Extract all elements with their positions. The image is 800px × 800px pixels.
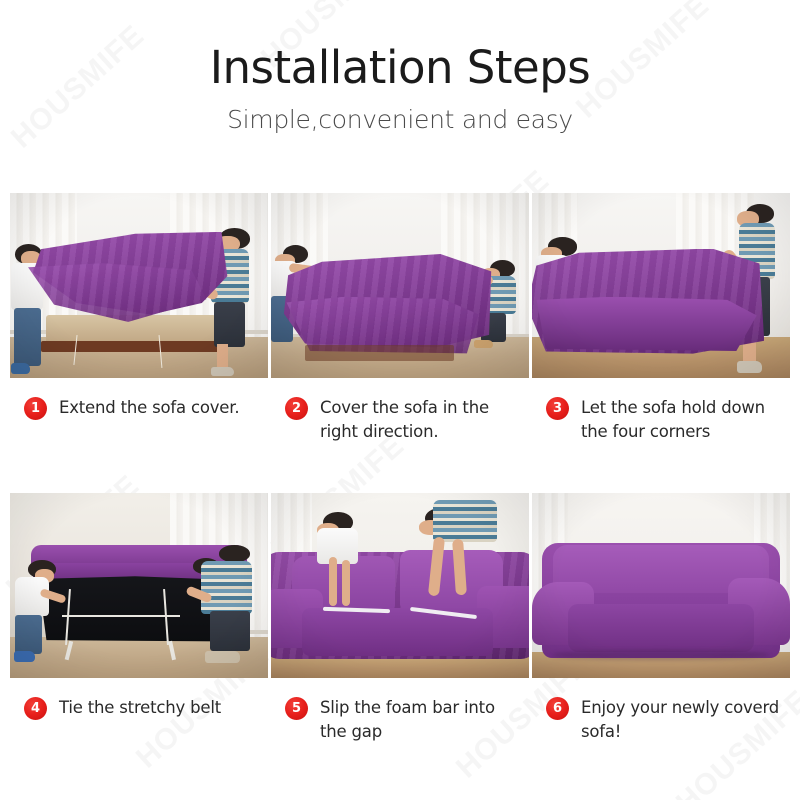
step-photo-5 — [271, 493, 529, 678]
step-caption-text-5: Slip the foam bar into the gap — [320, 696, 525, 744]
step-caption-text-2: Cover the sofa in the right direction. — [320, 396, 525, 444]
step-caption-text-3: Let the sofa hold down the four corners — [581, 396, 786, 444]
page-subtitle: Simple,convenient and easy — [0, 105, 800, 134]
step-caption-1: 1 Extend the sofa cover. — [10, 378, 268, 493]
step-photo-1 — [10, 193, 268, 378]
step-caption-3: 3 Let the sofa hold down the four corner… — [532, 378, 790, 493]
step-caption-text-4: Tie the stretchy belt — [59, 696, 221, 720]
step-caption-2: 2 Cover the sofa in the right direction. — [271, 378, 529, 493]
infographic-page: HOUSMIFE HOUSMIFE HOUSMIFE HOUSMIFE HOUS… — [0, 0, 800, 800]
step-caption-text-1: Extend the sofa cover. — [59, 396, 239, 420]
step-photo-3 — [532, 193, 790, 378]
step-badge-2: 2 — [285, 397, 308, 420]
step-caption-6: 6 Enjoy your newly coverd sofa! — [532, 678, 790, 793]
step-caption-5: 5 Slip the foam bar into the gap — [271, 678, 529, 793]
step-badge-5: 5 — [285, 697, 308, 720]
step-badge-3: 3 — [546, 397, 569, 420]
header: Installation Steps Simple,convenient and… — [0, 0, 800, 180]
step-photo-6 — [532, 493, 790, 678]
step-photo-4 — [10, 493, 268, 678]
steps-grid: 1 Extend the sofa cover. 2 Cover the sof… — [10, 193, 790, 753]
step-badge-4: 4 — [24, 697, 47, 720]
step-caption-text-6: Enjoy your newly coverd sofa! — [581, 696, 786, 744]
page-title: Installation Steps — [0, 44, 800, 91]
step-badge-1: 1 — [24, 397, 47, 420]
step-caption-4: 4 Tie the stretchy belt — [10, 678, 268, 793]
step-photo-2 — [271, 193, 529, 378]
step-badge-6: 6 — [546, 697, 569, 720]
